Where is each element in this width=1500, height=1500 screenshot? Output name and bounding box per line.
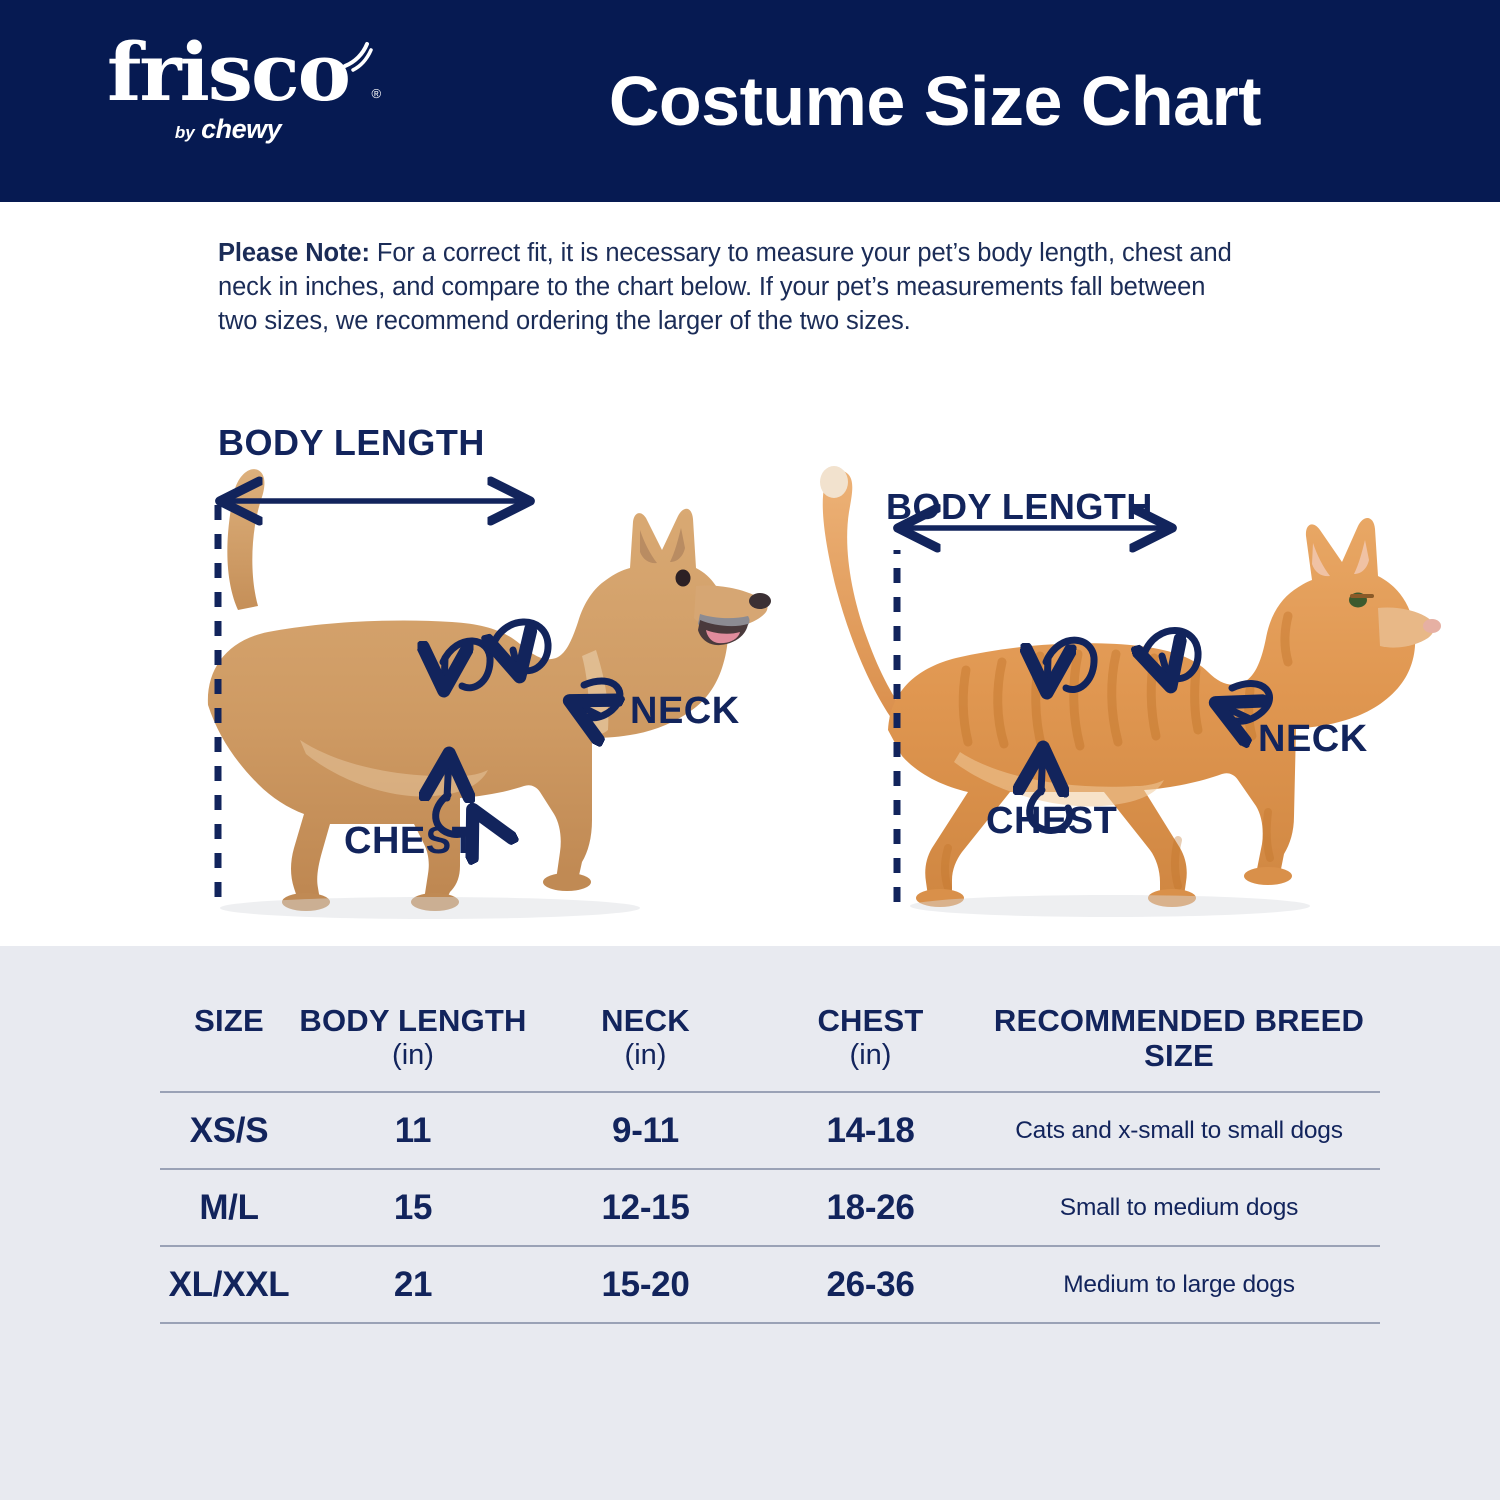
column-header-size: SIZE — [160, 1004, 298, 1092]
cell-size: M/L — [160, 1169, 298, 1246]
column-header-body-length-label: BODY LENGTH — [299, 1003, 526, 1038]
page-title-text: Costume Size Chart — [609, 61, 1261, 141]
logo-swoosh-icon — [341, 40, 375, 74]
column-header-breed-label: RECOMMENDED BREED SIZE — [994, 1003, 1364, 1073]
column-header-body-length: BODY LENGTH (in) — [298, 1004, 528, 1092]
column-header-chest-label: CHEST — [817, 1003, 923, 1038]
please-note-block: Please Note: For a correct fit, it is ne… — [218, 237, 1250, 339]
page-title: Costume Size Chart — [430, 0, 1500, 202]
registered-mark: ® — [371, 88, 379, 100]
cell-breed: Cats and x-small to small dogs — [978, 1092, 1380, 1169]
cell-body-length: 21 — [298, 1246, 528, 1323]
cat-illustration — [820, 466, 1441, 917]
cell-size: XL/XXL — [160, 1246, 298, 1323]
column-header-neck-label: NECK — [601, 1003, 690, 1038]
column-header-neck-unit: (in) — [528, 1039, 763, 1071]
dog-neck-label: NECK — [630, 690, 740, 733]
cell-body-length: 15 — [298, 1169, 528, 1246]
cell-chest: 26-36 — [763, 1246, 978, 1323]
column-header-body-length-unit: (in) — [298, 1039, 528, 1071]
please-note-label: Please Note: — [218, 239, 370, 267]
table-row: XS/S 11 9-11 14-18 Cats and x-small to s… — [160, 1092, 1380, 1169]
table-row: M/L 15 12-15 18-26 Small to medium dogs — [160, 1169, 1380, 1246]
cell-chest: 14-18 — [763, 1092, 978, 1169]
column-header-size-label: SIZE — [194, 1003, 264, 1038]
size-table: SIZE BODY LENGTH (in) NECK (in) CHEST (i… — [160, 1004, 1380, 1324]
dog-body-length-label: BODY LENGTH — [218, 422, 485, 464]
logo-by-text: by — [175, 123, 195, 142]
cat-chest-label: CHEST — [986, 800, 1117, 843]
cat-body-length-label: BODY LENGTH — [886, 486, 1153, 528]
illustration-canvas — [0, 400, 1500, 945]
cell-neck: 9-11 — [528, 1092, 763, 1169]
logo-wordmark: frisco — [107, 25, 349, 119]
cell-chest: 18-26 — [763, 1169, 978, 1246]
frisco-logo: frisco ® by chewy — [78, 34, 378, 164]
cell-neck: 15-20 — [528, 1246, 763, 1323]
page-header: frisco ® by chewy Costume Size Chart — [0, 0, 1500, 202]
table-header-row: SIZE BODY LENGTH (in) NECK (in) CHEST (i… — [160, 1004, 1380, 1092]
cell-body-length: 11 — [298, 1092, 528, 1169]
size-table-head: SIZE BODY LENGTH (in) NECK (in) CHEST (i… — [160, 1004, 1380, 1092]
column-header-neck: NECK (in) — [528, 1004, 763, 1092]
column-header-chest-unit: (in) — [763, 1039, 978, 1071]
size-table-body: XS/S 11 9-11 14-18 Cats and x-small to s… — [160, 1092, 1380, 1323]
size-table-section: SIZE BODY LENGTH (in) NECK (in) CHEST (i… — [0, 946, 1500, 1500]
dog-chest-label: CHEST — [344, 820, 475, 863]
please-note-body: For a correct fit, it is necessary to me… — [218, 239, 1232, 335]
cell-size: XS/S — [160, 1092, 298, 1169]
column-header-breed: RECOMMENDED BREED SIZE — [978, 1004, 1380, 1092]
column-header-chest: CHEST (in) — [763, 1004, 978, 1092]
cell-neck: 12-15 — [528, 1169, 763, 1246]
cell-breed: Medium to large dogs — [978, 1246, 1380, 1323]
measurement-illustrations: BODY LENGTH NECK CHEST BODY LENGTH NECK … — [0, 400, 1500, 945]
table-row: XL/XXL 21 15-20 26-36 Medium to large do… — [160, 1246, 1380, 1323]
cell-breed: Small to medium dogs — [978, 1169, 1380, 1246]
logo-wordmark-container: frisco ® — [107, 34, 349, 110]
cat-neck-label: NECK — [1258, 718, 1368, 761]
